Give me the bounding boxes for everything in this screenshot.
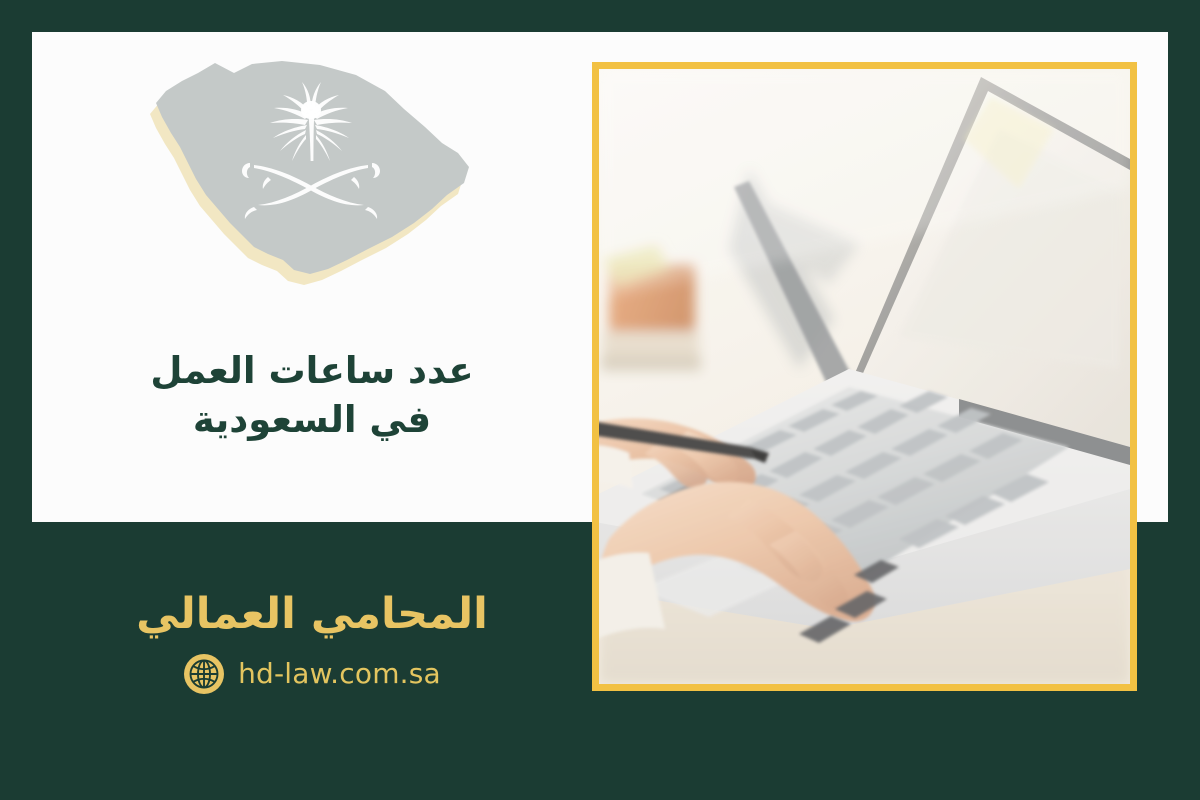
- page-title-line-2: في السعودية: [32, 396, 592, 445]
- brand-name: المحامي العمالي: [32, 590, 592, 639]
- map-landmass: [156, 61, 469, 274]
- brand-url[interactable]: hd-law.com.sa: [238, 660, 441, 688]
- brand-block: المحامي العمالي hd-law.com.sa: [32, 590, 592, 695]
- poster-canvas: عدد ساعات العمل في السعودية المحامي العم…: [0, 0, 1200, 800]
- globe-icon: [183, 653, 225, 695]
- hands-typing-on-laptop-photo: [599, 69, 1130, 684]
- page-title-line-1: عدد ساعات العمل: [32, 347, 592, 396]
- left-column: عدد ساعات العمل في السعودية: [32, 32, 592, 522]
- brand-url-row[interactable]: hd-law.com.sa: [32, 653, 592, 695]
- saudi-arabia-map-icon: [142, 57, 492, 297]
- photo-frame: [592, 62, 1137, 691]
- page-title: عدد ساعات العمل في السعودية: [32, 347, 592, 445]
